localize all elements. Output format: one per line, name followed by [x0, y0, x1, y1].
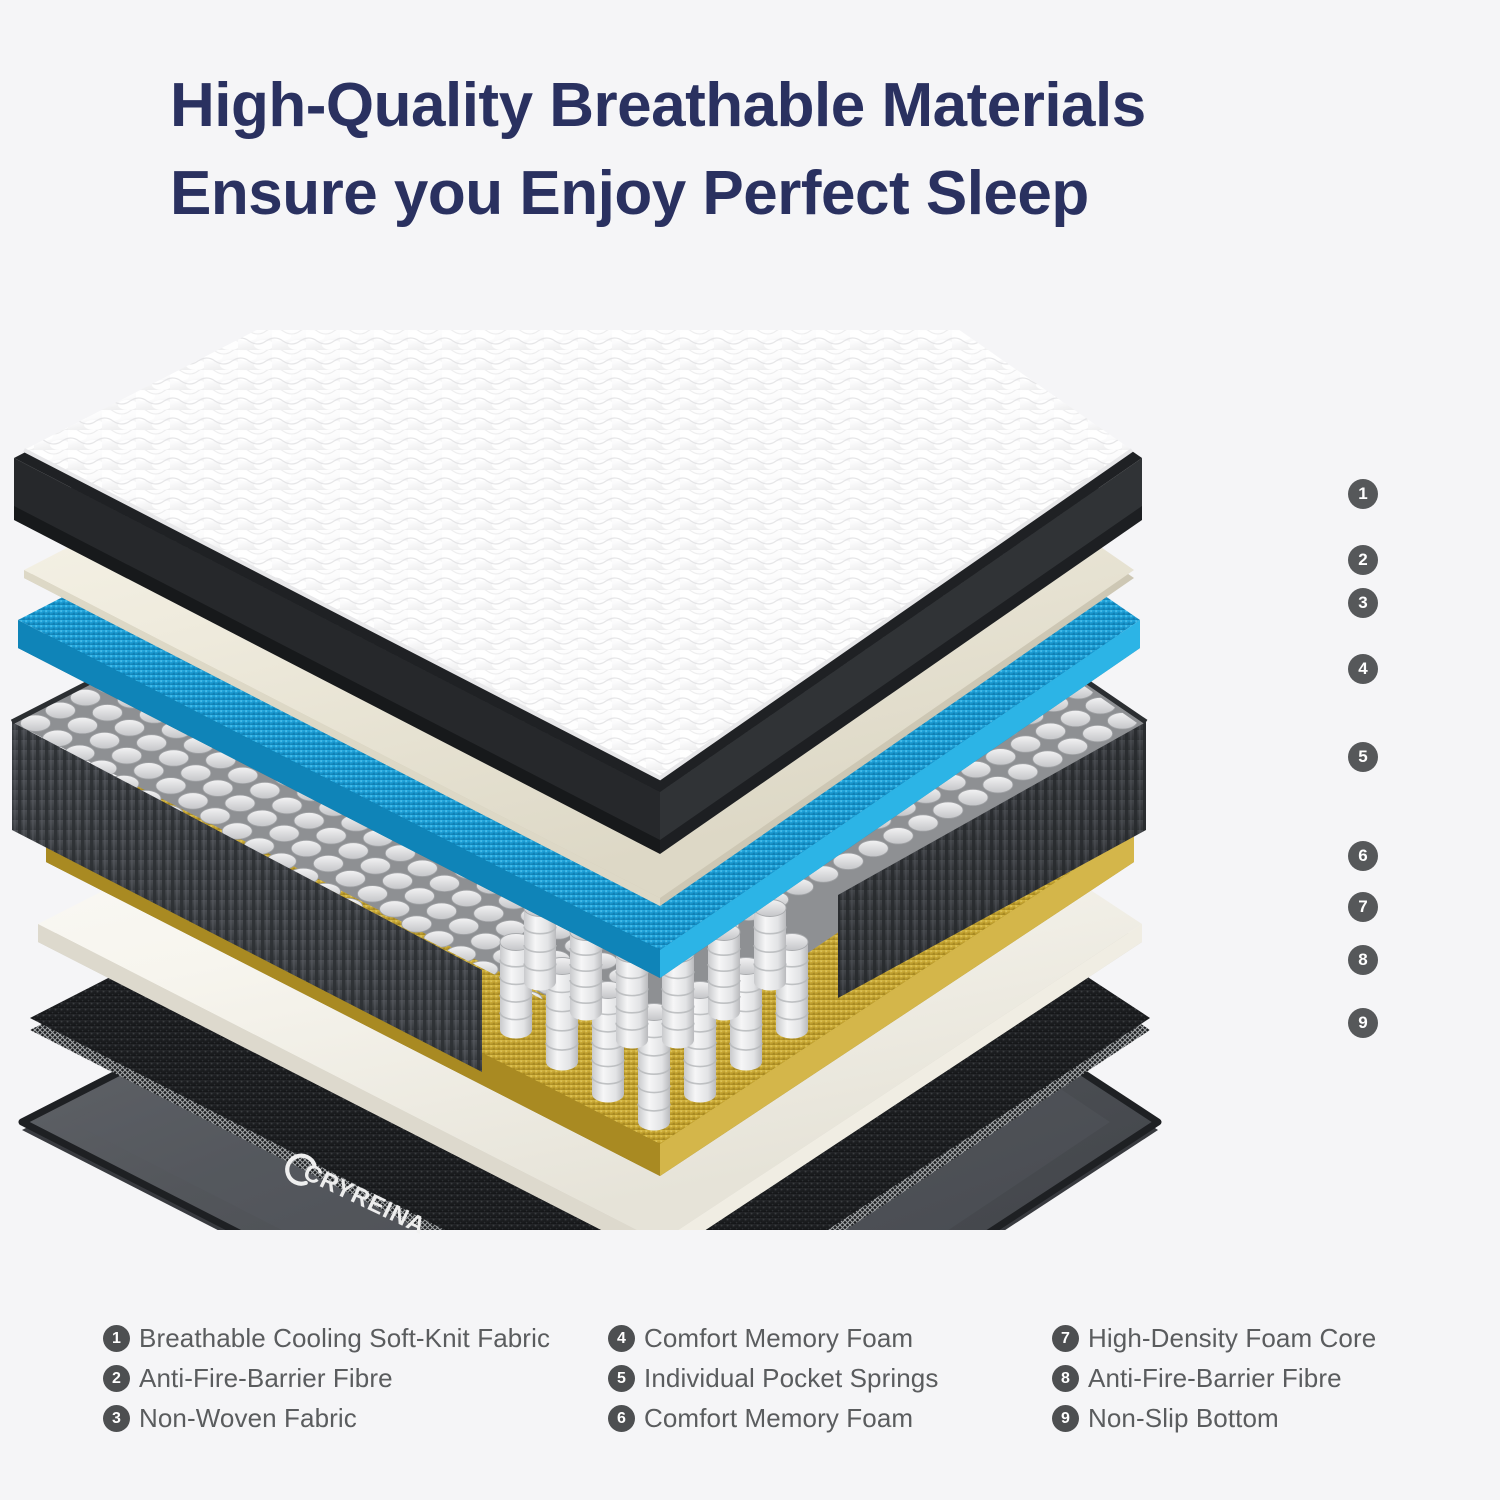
legend-label-6: Comfort Memory Foam: [644, 1403, 913, 1434]
legend-badge-1: 1: [103, 1325, 130, 1352]
legend-badge-3: 3: [103, 1405, 130, 1432]
layer-marker-1: 1: [1348, 479, 1378, 509]
legend-column-1: 1Breathable Cooling Soft-Knit Fabric2Ant…: [103, 1318, 550, 1438]
legend-item-3: 3Non-Woven Fabric: [103, 1398, 550, 1438]
legend-item-6: 6Comfort Memory Foam: [608, 1398, 938, 1438]
page-title-line-1: High-Quality Breathable Materials: [170, 62, 1390, 150]
legend-badge-7: 7: [1052, 1325, 1079, 1352]
layer-marker-6: 6: [1348, 841, 1378, 871]
legend-badge-9: 9: [1052, 1405, 1079, 1432]
mattress-layers-svg: [0, 330, 1330, 1230]
legend-item-7: 7High-Density Foam Core: [1052, 1318, 1376, 1358]
legend-badge-8: 8: [1052, 1365, 1079, 1392]
pocket-spring-13: [754, 900, 786, 991]
legend-label-4: Comfort Memory Foam: [644, 1323, 913, 1354]
legend-column-3: 7High-Density Foam Core8Anti-Fire-Barrie…: [1052, 1318, 1376, 1438]
legend-item-8: 8Anti-Fire-Barrier Fibre: [1052, 1358, 1376, 1398]
legend-item-1: 1Breathable Cooling Soft-Knit Fabric: [103, 1318, 550, 1358]
mattress-exploded-diagram: CRYREINA: [0, 330, 1330, 1230]
layer-marker-8: 8: [1348, 945, 1378, 975]
legend-label-5: Individual Pocket Springs: [644, 1363, 938, 1394]
layer-marker-7: 7: [1348, 892, 1378, 922]
legend-badge-2: 2: [103, 1365, 130, 1392]
page-title: High-Quality Breathable Materials Ensure…: [170, 62, 1390, 238]
layer-marker-4: 4: [1348, 654, 1378, 684]
legend-label-1: Breathable Cooling Soft-Knit Fabric: [139, 1323, 550, 1354]
legend-label-7: High-Density Foam Core: [1088, 1323, 1376, 1354]
legend-badge-6: 6: [608, 1405, 635, 1432]
legend-item-4: 4Comfort Memory Foam: [608, 1318, 938, 1358]
legend-item-2: 2Anti-Fire-Barrier Fibre: [103, 1358, 550, 1398]
legend-label-2: Anti-Fire-Barrier Fibre: [139, 1363, 393, 1394]
layer-marker-3: 3: [1348, 588, 1378, 618]
legend-column-2: 4Comfort Memory Foam5Individual Pocket S…: [608, 1318, 938, 1438]
legend-label-8: Anti-Fire-Barrier Fibre: [1088, 1363, 1342, 1394]
legend-badge-5: 5: [608, 1365, 635, 1392]
legend-label-9: Non-Slip Bottom: [1088, 1403, 1279, 1434]
legend-label-3: Non-Woven Fabric: [139, 1403, 357, 1434]
layer-marker-9: 9: [1348, 1008, 1378, 1038]
layer-marker-5: 5: [1348, 742, 1378, 772]
legend-badge-4: 4: [608, 1325, 635, 1352]
layer-marker-column: 123456789: [1330, 0, 1430, 1500]
legend-item-5: 5Individual Pocket Springs: [608, 1358, 938, 1398]
page-title-line-2: Ensure you Enjoy Perfect Sleep: [170, 150, 1390, 238]
layer-marker-2: 2: [1348, 545, 1378, 575]
legend: 1Breathable Cooling Soft-Knit Fabric2Ant…: [0, 1318, 1500, 1468]
legend-item-9: 9Non-Slip Bottom: [1052, 1398, 1376, 1438]
